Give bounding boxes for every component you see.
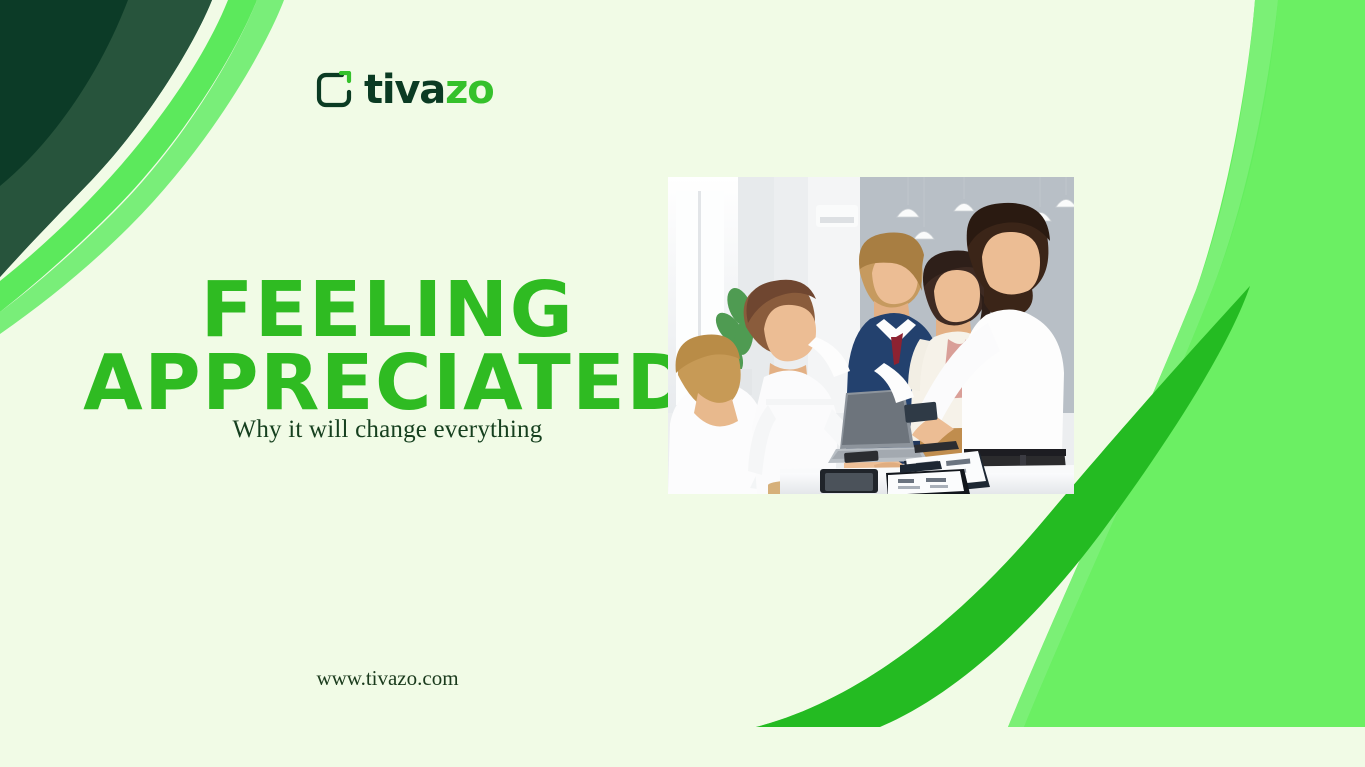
page-subtitle: Why it will change everything bbox=[55, 416, 720, 444]
brand-logo[interactable]: tivazo bbox=[315, 70, 493, 110]
right-green-inner-band bbox=[1024, 0, 1365, 727]
office-handshake-photo bbox=[668, 177, 1074, 494]
page-title: FEELING APPRECIATED bbox=[55, 274, 720, 422]
brand-wordmark: tivazo bbox=[364, 70, 493, 110]
brand-wordmark-part1: tiva bbox=[364, 67, 445, 113]
dark-green-inner-arc bbox=[0, 0, 212, 277]
office-handshake-illustration bbox=[668, 177, 1074, 494]
page-title-line-2: APPRECIATED bbox=[55, 347, 720, 421]
slide-canvas: tivazo FEELING APPRECIATED Why it will c… bbox=[0, 0, 1365, 767]
dark-green-outer-arc bbox=[0, 0, 212, 277]
website-url: www.tivazo.com bbox=[55, 666, 720, 691]
tablet bbox=[820, 469, 878, 493]
tivazo-bracket-logo-icon bbox=[315, 71, 353, 109]
brand-wordmark-part2: zo bbox=[445, 67, 493, 113]
